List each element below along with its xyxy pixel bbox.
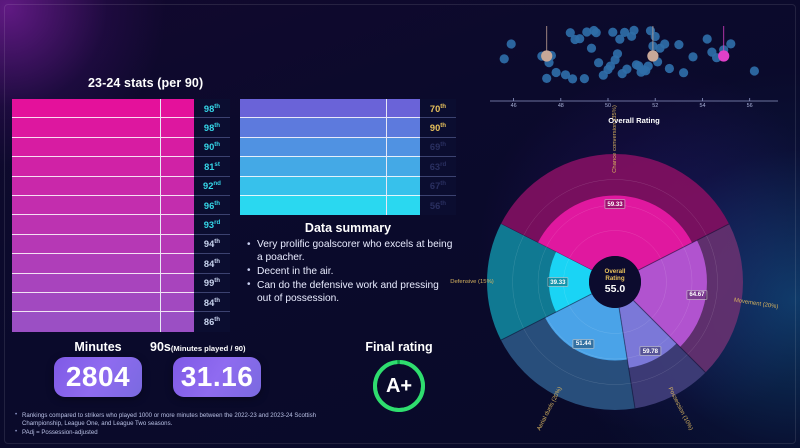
strip-axis-title: Overall Rating [476, 116, 792, 125]
stat-percentile: 93rd [194, 215, 230, 234]
nineties-caption: 90s(Minutes played / 90) [150, 340, 300, 354]
stat-value [160, 254, 194, 273]
stat-label [12, 312, 160, 331]
stat-percentile: 56th [420, 196, 456, 215]
stat-value [160, 274, 194, 293]
minutes-value: 2804 [54, 357, 142, 397]
axis-tick-label: 54 [699, 103, 705, 109]
stats-table-other: 70th90th69th63rd67th56th [240, 99, 456, 215]
sunburst-center: OverallRating55.0 [605, 269, 626, 295]
stat-value [160, 138, 194, 157]
stat-percentile: 70th [420, 99, 456, 118]
strip-plot-svg [476, 12, 792, 112]
stat-label [12, 118, 160, 137]
stat-value [160, 99, 194, 118]
table-row: 94th [12, 235, 230, 254]
table-row: 69th [240, 138, 456, 157]
stat-percentile: 98th [194, 118, 230, 137]
table-row: 86th [12, 312, 230, 331]
stats-table-attacking: 98th98th90th81st92nd96th93rd94th84th99th… [12, 99, 230, 332]
table-row: 98th [12, 118, 230, 137]
axis-tick-label: 56 [747, 103, 753, 109]
stat-value [160, 177, 194, 196]
stat-percentile: 96th [194, 196, 230, 215]
stat-label [12, 293, 160, 312]
table-row: 81st [12, 157, 230, 176]
data-summary-title: Data summary [240, 221, 456, 235]
data-summary-list: Very prolific goalscorer who excels at b… [246, 238, 454, 306]
sunburst-svg [470, 130, 800, 430]
axis-tick-label: 50 [605, 103, 611, 109]
stat-label [240, 196, 386, 215]
sunburst-center-value: 55.0 [605, 283, 626, 295]
stat-percentile: 84th [194, 293, 230, 312]
table-row: 84th [12, 293, 230, 312]
stat-label [12, 254, 160, 273]
stat-value [386, 138, 420, 157]
stat-value [386, 177, 420, 196]
sunburst-category-label: Chance conversion (35%) [612, 105, 618, 173]
stat-percentile: 98th [194, 99, 230, 118]
nineties-label: 90s [150, 340, 171, 354]
table-row: 92nd [12, 177, 230, 196]
stat-label [240, 118, 386, 137]
data-summary-item: Can do the defensive work and pressing o… [246, 279, 454, 305]
stat-percentile: 67th [420, 177, 456, 196]
table-row: 98th [12, 99, 230, 118]
stat-value [160, 157, 194, 176]
table-row: 93rd [12, 215, 230, 234]
stat-value [160, 235, 194, 254]
sunburst-value-label: 39.33 [547, 277, 568, 287]
left-table-title: 23-24 stats (per 90) [88, 76, 203, 90]
overall-rating-strip-plot: 464850525456 Overall Rating [476, 12, 792, 132]
stat-label [12, 177, 160, 196]
stat-percentile: 90th [420, 118, 456, 137]
sunburst-category-label: Defensive (15%) [450, 279, 494, 285]
stat-value [160, 215, 194, 234]
stat-value [160, 312, 194, 331]
table-row: 67th [240, 177, 456, 196]
nineties-sub: (Minutes played / 90) [171, 344, 246, 353]
stat-label [12, 99, 160, 118]
sunburst-value-label: 64.67 [686, 290, 707, 300]
stat-value [386, 99, 420, 118]
table-row: 99th [12, 274, 230, 293]
stat-percentile: 90th [194, 138, 230, 157]
stat-percentile: 84th [194, 254, 230, 273]
footnotes: Rankings compared to strikers who played… [14, 412, 344, 437]
stat-value [160, 118, 194, 137]
stat-label [240, 138, 386, 157]
stat-label [12, 274, 160, 293]
sunburst-value-label: 51.44 [573, 339, 594, 349]
stat-label [240, 157, 386, 176]
stat-value [160, 293, 194, 312]
minutes-caption: Minutes [50, 340, 146, 354]
stat-value [160, 196, 194, 215]
footnote-item: Rankings compared to strikers who played… [14, 412, 344, 429]
stat-percentile: 86th [194, 312, 230, 331]
axis-tick-label: 48 [558, 103, 564, 109]
data-summary-item: Decent in the air. [246, 265, 454, 278]
stat-label [12, 196, 160, 215]
final-rating-caption: Final rating [340, 340, 458, 354]
table-row: 84th [12, 254, 230, 273]
sunburst-value-label: 59.78 [640, 346, 661, 356]
table-row: 96th [12, 196, 230, 215]
final-rating-grade: A+ [371, 358, 427, 414]
table-row: 56th [240, 196, 456, 215]
stat-percentile: 99th [194, 274, 230, 293]
table-row: 90th [240, 118, 456, 137]
final-rating-gauge: A+ [371, 358, 427, 414]
stat-value [386, 118, 420, 137]
table-row: 90th [12, 138, 230, 157]
stat-label [12, 138, 160, 157]
stat-label [240, 177, 386, 196]
table-row: 63rd [240, 157, 456, 176]
sunburst-value-label: 59.33 [604, 199, 625, 209]
stat-percentile: 94th [194, 235, 230, 254]
stat-label [12, 235, 160, 254]
stat-percentile: 69th [420, 138, 456, 157]
stat-label [240, 99, 386, 118]
data-summary-item: Very prolific goalscorer who excels at b… [246, 238, 454, 264]
sunburst-center-label: OverallRating [605, 269, 626, 282]
axis-tick-label: 52 [652, 103, 658, 109]
dashboard-root: 23-24 stats (per 90) 98th98th90th81st92n… [0, 0, 800, 448]
stat-percentile: 63rd [420, 157, 456, 176]
axis-tick-label: 46 [511, 103, 517, 109]
table-row: 70th [240, 99, 456, 118]
stat-percentile: 81st [194, 157, 230, 176]
stat-value [386, 196, 420, 215]
footnote-item: PAdj = Possession-adjusted [14, 429, 344, 437]
rating-sunburst: 59.33Chance conversion (35%)64.67Movemen… [470, 130, 800, 430]
nineties-value: 31.16 [173, 357, 261, 397]
stat-label [12, 157, 160, 176]
stat-percentile: 92nd [194, 177, 230, 196]
stat-label [12, 215, 160, 234]
stat-value [386, 157, 420, 176]
